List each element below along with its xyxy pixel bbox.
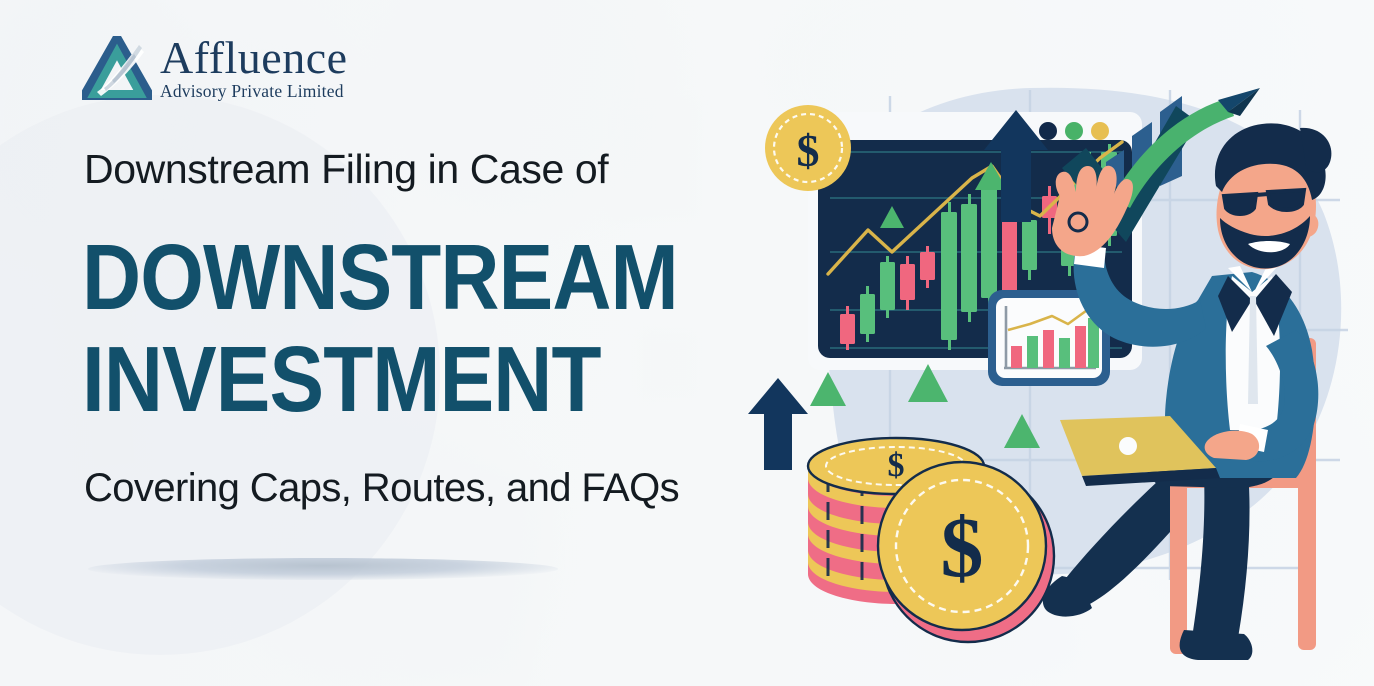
window-dot-green[interactable] <box>1065 122 1083 140</box>
hero-headline-line2: INVESTMENT <box>82 333 601 426</box>
illustration-svg: $ <box>700 0 1374 686</box>
bar <box>1043 330 1054 368</box>
svg-text:$: $ <box>888 447 905 484</box>
svg-text:$: $ <box>941 499 984 595</box>
bar <box>1075 326 1086 368</box>
window-dot-navy[interactable] <box>1039 122 1057 140</box>
brand-tagline: Advisory Private Limited <box>160 83 348 101</box>
banner: Affluence Advisory Private Limited Downs… <box>0 0 1374 686</box>
bar <box>1027 336 1038 368</box>
affluence-triangle-logo-icon <box>82 36 152 100</box>
brand-logo[interactable]: Affluence Advisory Private Limited <box>82 36 348 100</box>
financial-growth-illustration: $ <box>700 0 1374 686</box>
coin-floating: $ <box>765 105 851 191</box>
bar <box>1059 338 1070 368</box>
hero-headline-line1: DOWNSTREAM <box>82 231 678 324</box>
bar <box>1011 346 1022 368</box>
text-base-shadow <box>88 558 558 580</box>
hero-kicker: Downstream Filing in Case of <box>84 146 608 193</box>
brand-name: Affluence <box>160 36 348 80</box>
svg-text:$: $ <box>797 125 820 176</box>
hero-subline: Covering Caps, Routes, and FAQs <box>84 466 679 511</box>
window-dot-gold[interactable] <box>1091 122 1109 140</box>
